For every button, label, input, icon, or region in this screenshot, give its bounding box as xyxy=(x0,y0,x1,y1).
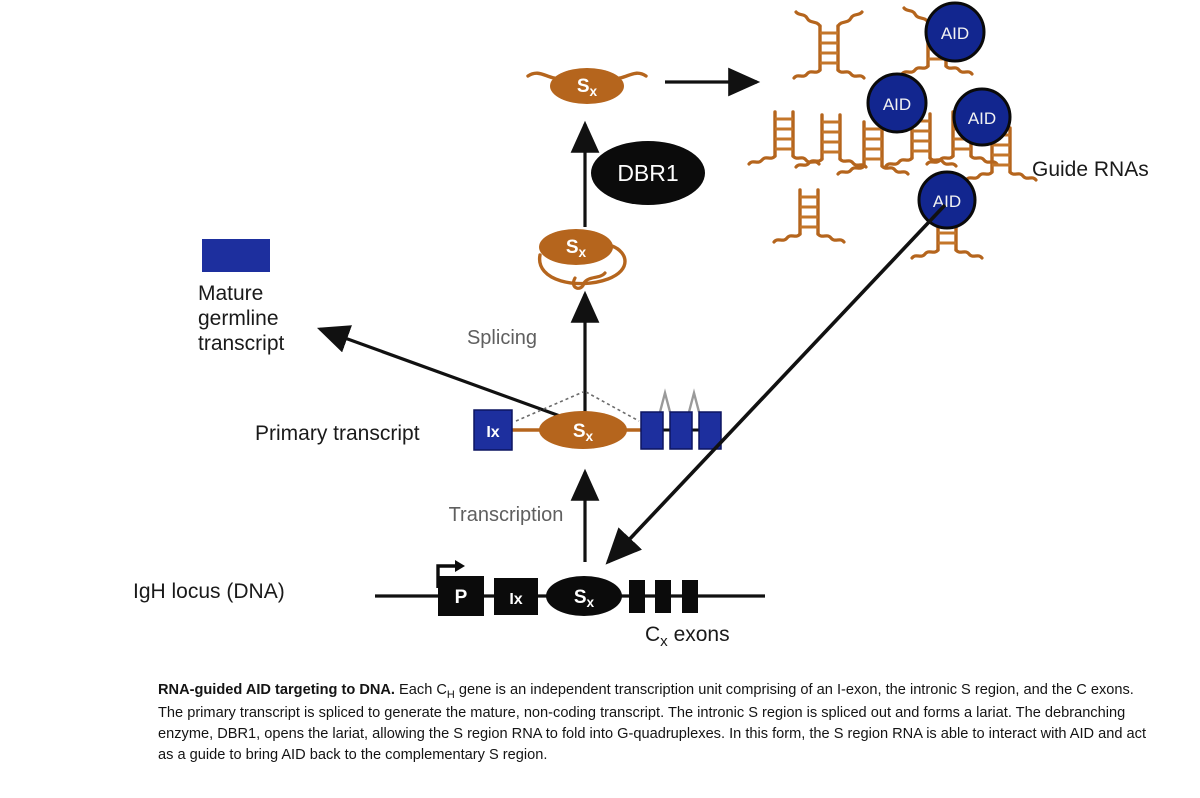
dna-c-exon-box xyxy=(655,580,671,613)
g-quadruplex xyxy=(749,112,819,164)
mature-transcript-exon-box xyxy=(202,239,270,272)
caption-subscript-h: H xyxy=(447,689,455,701)
splicing-label: Splicing xyxy=(467,327,537,349)
primary-transcript-label: Primary transcript xyxy=(255,422,420,445)
transcript-c-exon-box xyxy=(670,412,692,449)
aid-label: AID xyxy=(968,109,996,128)
pathway-diagram: Sx xyxy=(0,0,1200,670)
caption-title: RNA-guided AID targeting to DNA. xyxy=(158,682,395,698)
figure-caption: RNA-guided AID targeting to DNA. Each CH… xyxy=(158,680,1158,766)
tss-arrowhead-icon xyxy=(455,560,465,572)
aid-molecule: AID xyxy=(919,172,975,228)
igh-locus-dna: P Ix Sx Cx exons xyxy=(375,560,765,650)
g-quadruplex xyxy=(774,190,844,242)
primary-transcript: Ix Sx xyxy=(474,392,721,450)
i-exon-label-transcript: Ix xyxy=(486,424,499,441)
i-exon-label-dna: Ix xyxy=(509,591,522,608)
aid-molecule: AID xyxy=(926,3,984,61)
mature-germline-transcript: Mature germline transcript xyxy=(198,239,285,355)
splice-peak-icon xyxy=(660,393,670,412)
igh-locus-label: IgH locus (DNA) xyxy=(133,580,285,603)
linear-s-region-rna: Sx xyxy=(528,68,646,104)
aid-molecule: AID xyxy=(954,89,1010,145)
cx-exons-label: Cx exons xyxy=(645,623,730,650)
mature-transcript-label-line2: germline xyxy=(198,307,279,330)
splice-peak-icon xyxy=(689,393,699,412)
dbr1-label: DBR1 xyxy=(617,160,678,186)
aid-molecule: AID xyxy=(868,74,926,132)
dna-c-exon-box xyxy=(629,580,645,613)
aid-label: AID xyxy=(941,24,969,43)
mature-transcript-label-line1: Mature xyxy=(198,282,263,305)
lariat-s-region: Sx xyxy=(539,229,625,288)
aid-molecules: AID AID AID AID xyxy=(868,3,1010,228)
g-quadruplex xyxy=(794,12,864,78)
promoter-label: P xyxy=(455,587,468,608)
arrow-to-mature-transcript xyxy=(320,329,582,424)
mature-transcript-label-line3: transcript xyxy=(198,332,285,355)
caption-body-part1: Each C xyxy=(395,682,447,698)
transcription-label: Transcription xyxy=(449,504,564,526)
figure-page: Sx xyxy=(0,0,1200,798)
dbr1-enzyme: DBR1 xyxy=(591,141,705,205)
guide-rnas-label: Guide RNAs xyxy=(1032,158,1149,181)
aid-label: AID xyxy=(933,192,961,211)
aid-label: AID xyxy=(883,95,911,114)
arrow-aid-targeting-to-dna xyxy=(608,205,945,562)
transcript-c-exon-box xyxy=(641,412,663,449)
dna-c-exon-box xyxy=(682,580,698,613)
